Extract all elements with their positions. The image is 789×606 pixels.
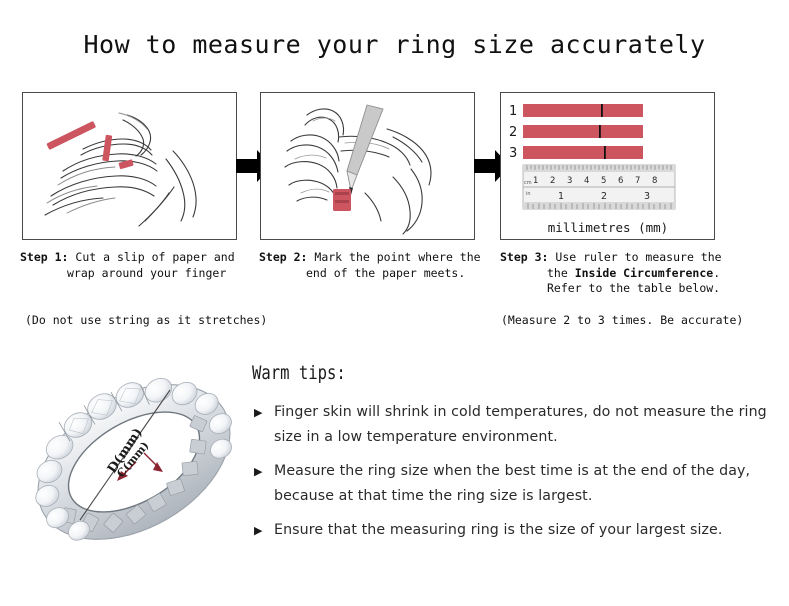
warm-tips-section: Warm tips: ▶ Finger skin will shrink in … (252, 362, 772, 552)
hand-with-paper-strip-icon (23, 93, 237, 240)
svg-text:5: 5 (601, 176, 606, 186)
step-2-line1: Mark the point where the (314, 250, 480, 264)
svg-text:2: 2 (601, 191, 607, 202)
svg-text:1: 1 (558, 191, 564, 202)
warm-tips-heading: Warm tips: (252, 362, 678, 384)
svg-text:6: 6 (618, 176, 623, 186)
tip-item: ▶ Ensure that the measuring ring is the … (252, 518, 772, 543)
svg-text:3: 3 (644, 191, 650, 202)
ruler-unit-caption: millimetres (mm) (548, 220, 668, 235)
tip-item: ▶ Measure the ring size when the best ti… (252, 459, 772, 509)
step-3-line2-prefix: the (547, 266, 575, 280)
paper-strips (523, 104, 643, 159)
step-3-line1: Use ruler to measure the (555, 250, 721, 264)
svg-text:8: 8 (652, 176, 657, 186)
step-1-caption: Step 1: Cut a slip of paper and wrap aro… (20, 250, 252, 281)
ruler: 12 34 56 78 cm 1 2 3 in (523, 165, 675, 209)
step-1-lead: Step 1: (20, 250, 68, 264)
step-3-inside-circumference: Inside Circumference (575, 266, 713, 280)
strip-label-1: 1 (509, 104, 517, 119)
step-1-line1: Cut a slip of paper and (75, 250, 234, 264)
svg-text:cm: cm (524, 180, 532, 186)
tip-item: ▶ Finger skin will shrink in cold temper… (252, 400, 772, 450)
step-2-caption: Step 2: Mark the point where the end of … (259, 250, 495, 281)
step-1-illustration-panel (22, 92, 237, 240)
ring-illustration: D(mm) C(mm) (18, 352, 250, 572)
strip-label-3: 3 (509, 146, 517, 161)
strip-label-2: 2 (509, 125, 517, 140)
step-3-note: (Measure 2 to 3 times. Be accurate) (501, 313, 743, 327)
diamond-ring-icon: D(mm) C(mm) (18, 352, 250, 572)
bullet-triangle-icon: ▶ (254, 459, 263, 484)
tip-text: Ensure that the measuring ring is the si… (274, 518, 772, 543)
step-1-line2: wrap around your finger (20, 266, 252, 282)
hand-marking-paper-icon (261, 93, 475, 240)
bullet-triangle-icon: ▶ (254, 518, 263, 543)
page-title: How to measure your ring size accurately (0, 30, 789, 59)
step-1-note: (Do not use string as it stretches) (25, 313, 267, 327)
ring-size-guide-page: How to measure your ring size accurately (0, 0, 789, 606)
svg-text:7: 7 (635, 176, 640, 186)
steps-row: 1 2 3 (0, 92, 789, 242)
step-2-illustration-panel (260, 92, 475, 240)
step-3-caption: Step 3: Use ruler to measure the the Ins… (500, 250, 770, 297)
step-3-line2-suffix: . (713, 266, 720, 280)
ruler-with-strips-icon: 1 2 3 (501, 93, 715, 240)
tip-text: Measure the ring size when the best time… (274, 459, 772, 509)
svg-text:in: in (526, 191, 531, 197)
svg-text:3: 3 (567, 176, 572, 186)
svg-text:4: 4 (584, 176, 589, 186)
svg-text:1: 1 (533, 176, 538, 186)
svg-text:2: 2 (550, 176, 555, 186)
step-3-line2: the Inside Circumference. (500, 266, 770, 282)
tip-text: Finger skin will shrink in cold temperat… (274, 400, 772, 450)
step-3-illustration-panel: 1 2 3 (500, 92, 715, 240)
step-3-lead: Step 3: (500, 250, 548, 264)
bullet-triangle-icon: ▶ (254, 400, 263, 425)
step-2-line2: end of the paper meets. (259, 266, 495, 282)
step-2-lead: Step 2: (259, 250, 307, 264)
step-3-line3: Refer to the table below. (500, 281, 770, 297)
